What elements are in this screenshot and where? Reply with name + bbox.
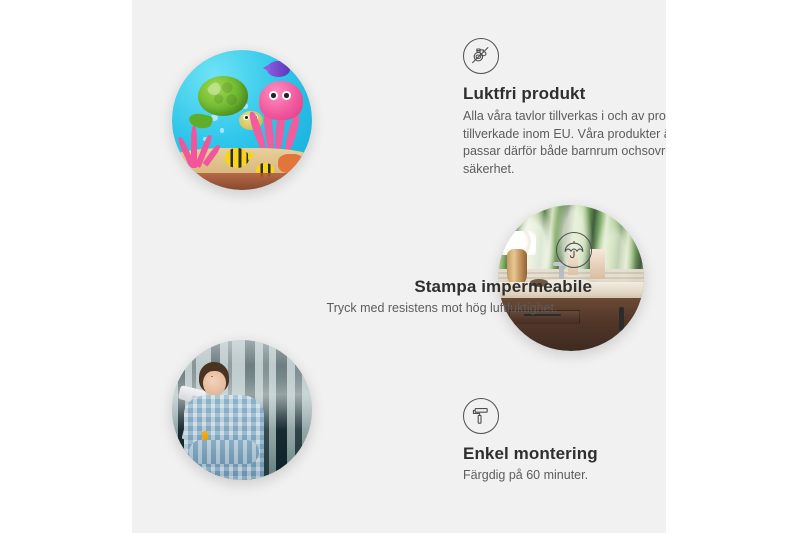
feature-waterproof: Stampa impermeabile Tryck med resistens … [292, 232, 592, 318]
content-panel: Luktfri produkt Alla våra tavlor tillver… [132, 0, 666, 533]
feature-title: Luktfri produkt [463, 83, 666, 105]
paint-roller-icon [463, 398, 499, 434]
woman-illustration [180, 362, 267, 480]
feature-title: Stampa impermeabile [292, 276, 592, 298]
no-scent-perfume-bottle-icon [463, 38, 499, 74]
octopus-illustration [250, 81, 309, 154]
feature-body: Alla våra tavlor tillverkas i och av pro… [463, 108, 666, 178]
feature-body: Färgdig på 60 minuter. [463, 467, 666, 485]
feature-title: Enkel montering [463, 443, 666, 465]
feature-body: Tryck med resistens mot hög luftfuktighe… [292, 300, 592, 318]
umbrella-icon [556, 232, 592, 268]
promo-graphic: Luktfri produkt Alla våra tavlor tillver… [0, 0, 800, 533]
image-woman-forest-wallpaper [172, 340, 312, 480]
image-underwater-scene [172, 50, 312, 190]
feature-odourless: Luktfri produkt Alla våra tavlor tillver… [463, 38, 666, 178]
turtle-illustration [192, 72, 259, 131]
feature-assembly: Enkel montering Färgdig på 60 minuter. [463, 398, 666, 485]
